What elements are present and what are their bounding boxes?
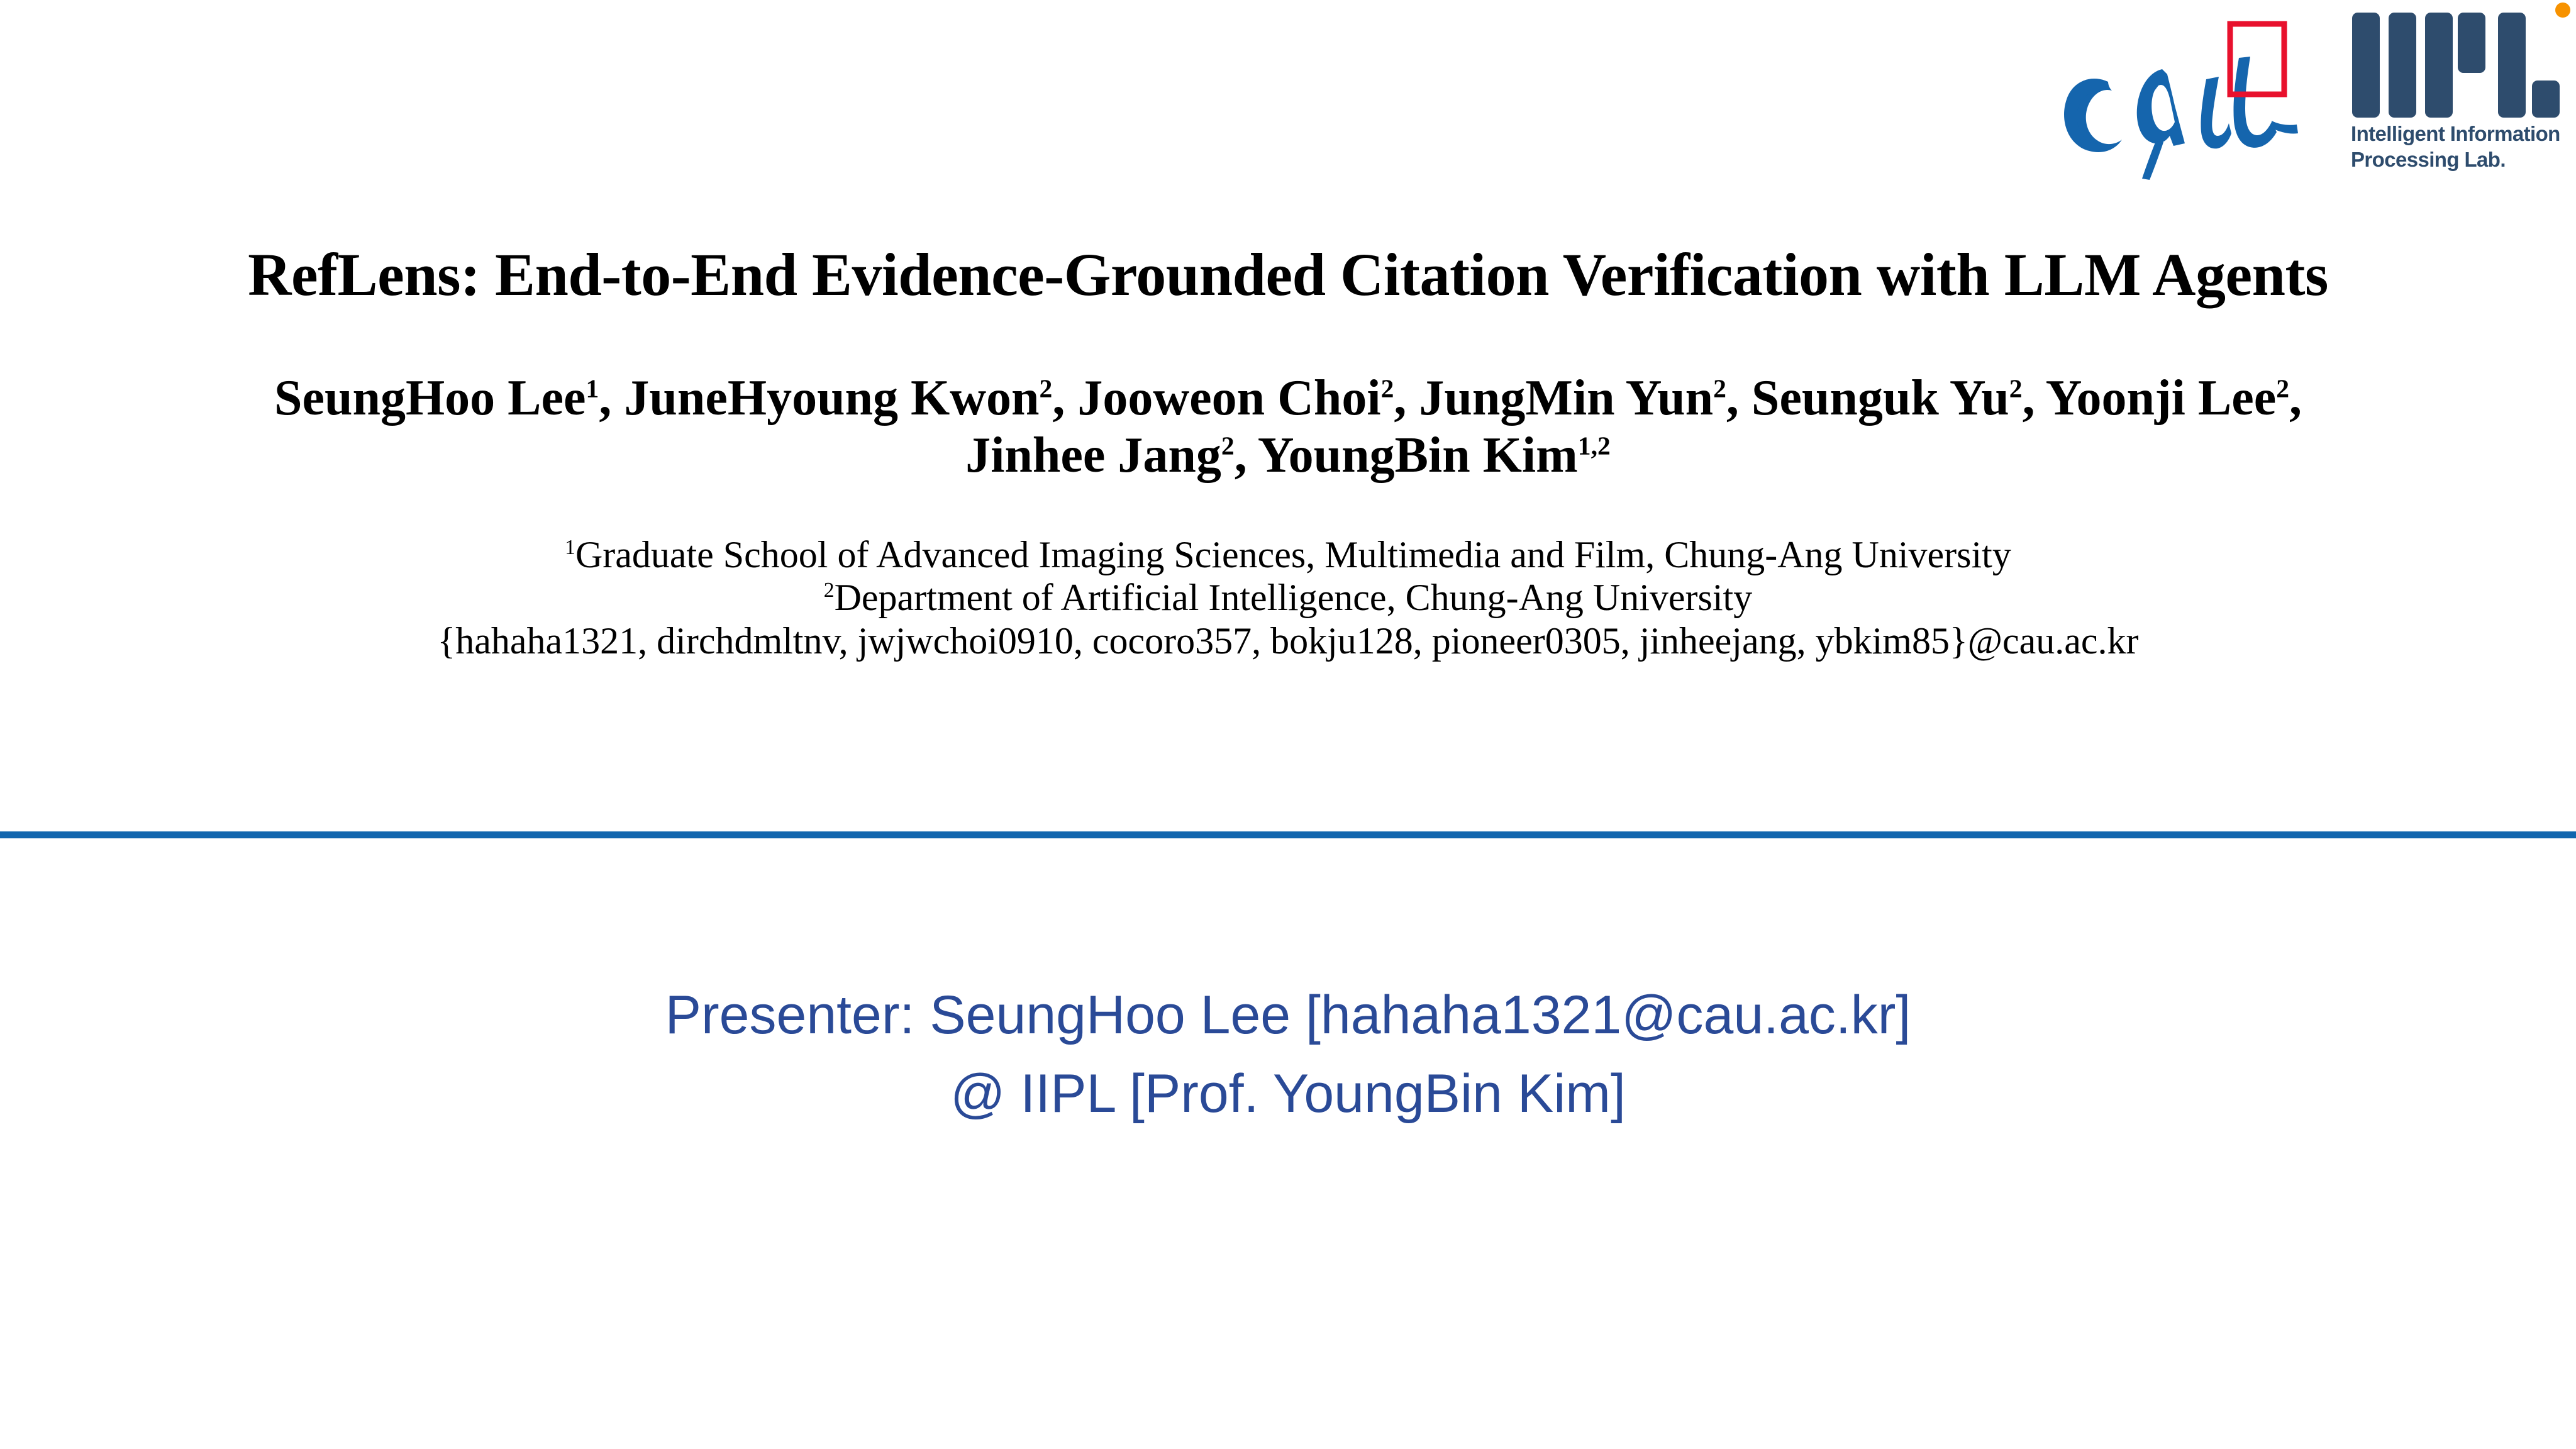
author-affiliation-marker: 2 <box>1381 374 1394 402</box>
logo-row: Intelligent Information Processing Lab. <box>2050 5 2572 178</box>
author-name: Yoonji Lee <box>2046 370 2277 426</box>
presenter-block: Presenter: SeungHoo Lee [hahaha1321@cau.… <box>0 976 2576 1133</box>
presenter-line-1: Presenter: SeungHoo Lee [hahaha1321@cau.… <box>0 976 2576 1055</box>
iipl-bars-icon <box>2350 10 2563 120</box>
author-name: Jinhee Jang <box>965 428 1221 483</box>
paper-title: RefLens: End-to-End Evidence-Grounded Ci… <box>0 242 2576 308</box>
author-line-1: SeungHoo Lee1, JuneHyoung Kwon2, Jooweon… <box>94 370 2482 427</box>
email-line: {hahaha1321, dirchdmltnv, jwjwchoi0910, … <box>0 619 2576 662</box>
affiliation-marker: 2 <box>824 579 835 602</box>
iipl-caption-line-1: Intelligent Information <box>2351 121 2572 147</box>
cau-logo <box>2050 11 2321 181</box>
author-affiliation-marker: 2 <box>1040 374 1053 402</box>
affiliation-2: 2Department of Artificial Intelligence, … <box>0 576 2576 619</box>
author-line-2: Jinhee Jang2, YoungBin Kim1,2 <box>94 427 2482 484</box>
author-affiliation-marker: 1 <box>586 374 599 402</box>
presenter-line-2: @ IIPL [Prof. YoungBin Kim] <box>0 1055 2576 1133</box>
affiliation-1: 1Graduate School of Advanced Imaging Sci… <box>0 533 2576 576</box>
affiliation-text: Department of Artificial Intelligence, C… <box>835 577 1753 618</box>
affiliation-text: Graduate School of Advanced Imaging Scie… <box>575 534 2011 575</box>
author-name: YoungBin Kim <box>1258 428 1578 483</box>
author-affiliation-marker: 2 <box>2009 374 2023 402</box>
title-slide: Intelligent Information Processing Lab. … <box>0 0 2576 1449</box>
author-name: Seunguk Yu <box>1752 370 2009 426</box>
author-name: SeungHoo Lee <box>274 370 586 426</box>
affiliation-block: 1Graduate School of Advanced Imaging Sci… <box>0 533 2576 662</box>
author-affiliation-marker: 1,2 <box>1578 431 1611 460</box>
author-affiliation-marker: 2 <box>1713 374 1726 402</box>
iipl-logo: Intelligent Information Processing Lab. <box>2346 10 2572 183</box>
author-name: JungMin Yun <box>1419 370 1713 426</box>
author-name: JuneHyoung Kwon <box>624 370 1039 426</box>
iipl-caption-line-2: Processing Lab. <box>2351 147 2572 173</box>
author-list: SeungHoo Lee1, JuneHyoung Kwon2, Jooweon… <box>94 370 2482 484</box>
affiliation-marker: 1 <box>565 536 575 559</box>
iipl-caption: Intelligent Information Processing Lab. <box>2351 121 2572 173</box>
section-divider <box>0 831 2576 838</box>
author-affiliation-marker: 2 <box>2276 374 2289 402</box>
author-affiliation-marker: 2 <box>1221 431 1235 460</box>
author-name: Jooweon Choi <box>1077 370 1380 426</box>
